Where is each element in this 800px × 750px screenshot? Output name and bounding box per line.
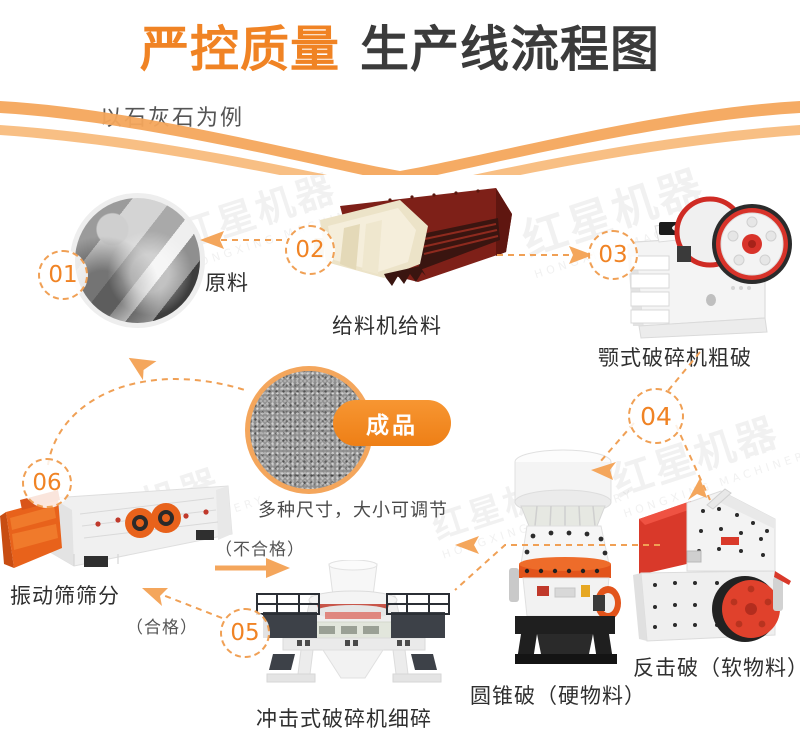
step-badge-01[interactable]: 01 <box>38 250 88 300</box>
page-title-main: 生产线流程图 <box>360 21 660 78</box>
step-caption-03: 颚式破碎机粗破 <box>598 342 752 372</box>
machine-cone-crusher <box>485 440 645 670</box>
flow-label-fail: （不合格） <box>215 535 305 560</box>
step-badge-04[interactable]: 04 <box>628 388 684 444</box>
flow-label-pass: （合格） <box>126 613 198 638</box>
step-caption-02: 给料机给料 <box>332 310 442 340</box>
page-title-highlight: 严控质量 <box>140 21 340 78</box>
product-badge: 成品 <box>333 400 451 446</box>
page-subtitle: 以石灰石为例 <box>100 100 244 132</box>
photo-raw-material <box>75 198 200 323</box>
step-caption-05: 冲击式破碎机细碎 <box>256 703 432 733</box>
connector-06-product <box>48 354 245 465</box>
caption-impact-crusher: 反击破（软物料） <box>633 652 800 682</box>
page-header: 严控质量生产线流程图 <box>0 14 800 94</box>
machine-vsi-crusher <box>245 560 460 690</box>
step-badge-06[interactable]: 06 <box>22 458 72 508</box>
flow-diagram-poster: 红星机器HONGXING MACHINERY 红星机器HONGXING MACH… <box>0 0 800 750</box>
step-caption-01: 原料 <box>205 267 249 297</box>
step-badge-02[interactable]: 02 <box>285 225 335 275</box>
step-badge-05[interactable]: 05 <box>220 608 270 658</box>
connector-01-02 <box>200 231 288 249</box>
product-caption: 多种尺寸，大小可调节 <box>258 496 448 522</box>
step-badge-03[interactable]: 03 <box>588 230 638 280</box>
machine-jaw-crusher <box>615 180 800 345</box>
step-caption-06: 振动筛筛分 <box>10 580 120 610</box>
machine-impact-crusher <box>625 485 800 660</box>
caption-cone-crusher: 圆锥破（硬物料） <box>470 680 646 710</box>
